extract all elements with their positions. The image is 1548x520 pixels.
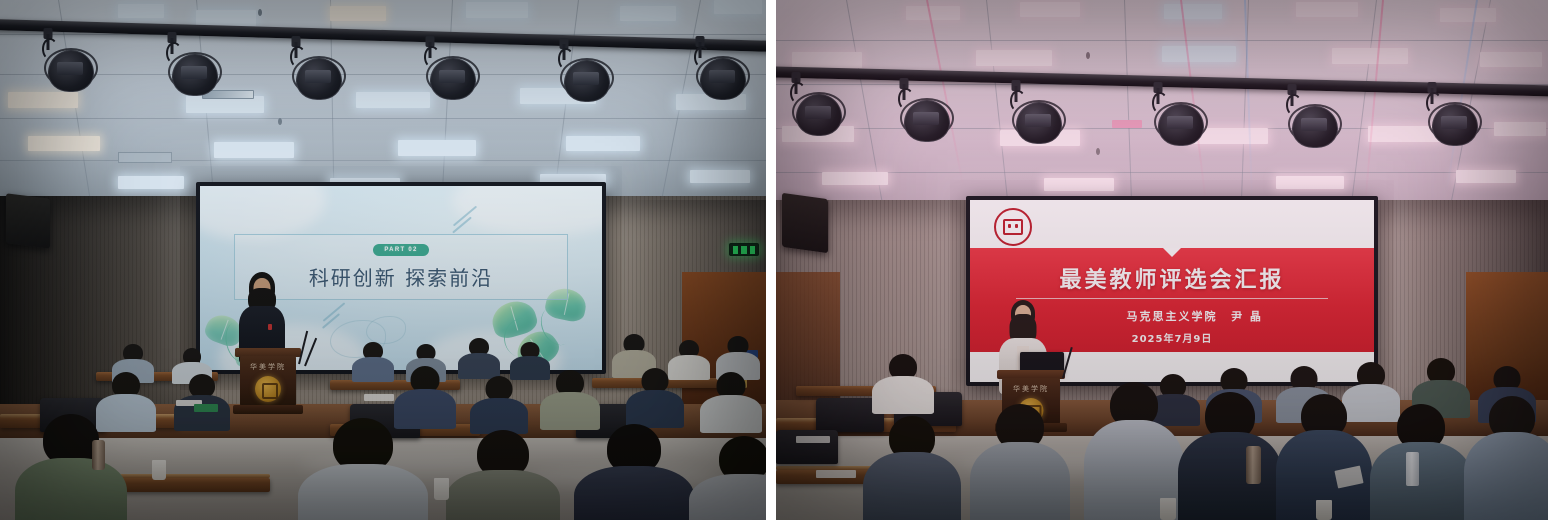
water-bottle xyxy=(1406,452,1419,486)
wall-speaker xyxy=(6,193,50,248)
sprinkler-head xyxy=(1096,148,1100,155)
wall-speaker xyxy=(782,193,828,253)
wainscot-panel xyxy=(776,272,840,402)
podium-plate-text: 华美学院 xyxy=(1013,384,1049,394)
photo-divider xyxy=(766,0,776,520)
paper-cup xyxy=(1160,498,1176,520)
podium-left: 华美学院 xyxy=(240,348,296,414)
ceiling-vent xyxy=(1112,120,1142,128)
tablet-device xyxy=(194,404,218,412)
slide-subtitle-name: 尹 晶 xyxy=(1120,308,1374,324)
band-notch xyxy=(1163,248,1181,257)
thermos-bottle xyxy=(92,440,105,470)
university-logo-icon xyxy=(994,208,1032,246)
paper-cup xyxy=(434,478,449,500)
ceiling-vent xyxy=(118,152,172,163)
lecture-hall-photo-right: 最美教师评选会汇报 马克思主义学院 尹 晶 2025年7月9日 华美学院 xyxy=(776,0,1548,520)
photo-pair-composite: PART 02 科研创新 探索前沿 华美学院 xyxy=(0,0,1548,520)
sprinkler-head xyxy=(278,118,282,125)
lecture-hall-photo-left: PART 02 科研创新 探索前沿 华美学院 xyxy=(0,0,766,520)
exit-sign-icon xyxy=(729,243,759,256)
thermos-bottle xyxy=(1246,446,1261,484)
sprinkler-head xyxy=(1086,52,1090,59)
paper-cup xyxy=(1316,500,1332,520)
podium-plate-text: 华美学院 xyxy=(250,362,286,372)
slide-title: 最美教师评选会汇报 xyxy=(970,262,1374,294)
podium-emblem-icon xyxy=(255,376,281,402)
sprinkler-head xyxy=(258,9,262,16)
part-badge: PART 02 xyxy=(373,244,428,256)
paper-cup xyxy=(152,460,166,480)
slide-title: 科研创新 探索前沿 xyxy=(309,262,493,291)
